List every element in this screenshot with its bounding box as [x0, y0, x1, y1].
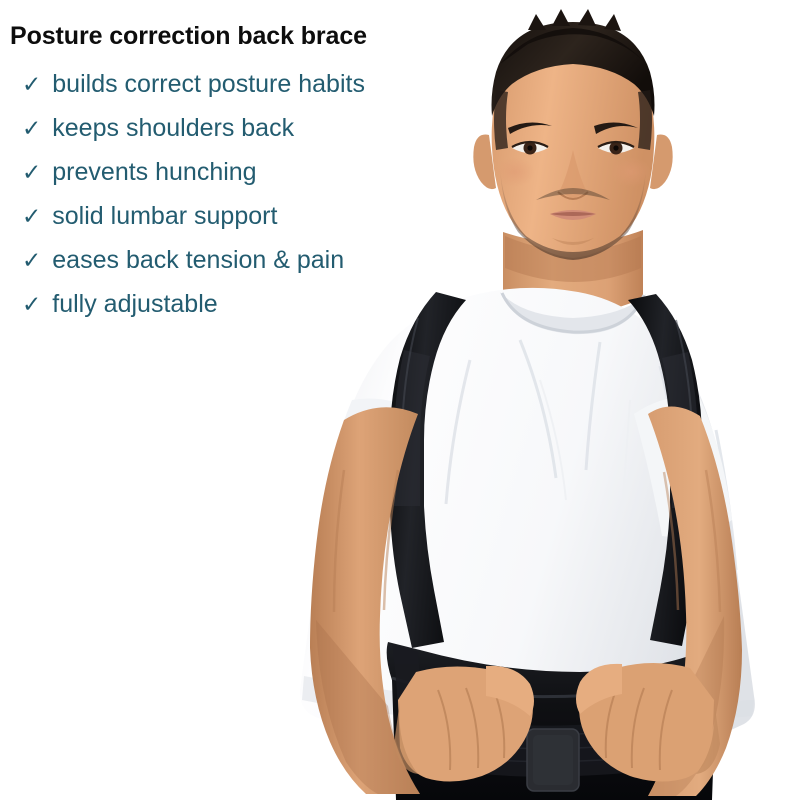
list-item: ✓ builds correct posture habits — [0, 62, 480, 106]
benefit-label: prevents hunching — [52, 150, 256, 194]
benefit-label: fully adjustable — [52, 282, 217, 326]
benefits-list: ✓ builds correct posture habits ✓ keeps … — [0, 51, 480, 326]
check-icon: ✓ — [22, 106, 41, 150]
check-icon: ✓ — [22, 282, 41, 326]
benefit-label: builds correct posture habits — [52, 62, 365, 106]
list-item: ✓ fully adjustable — [0, 282, 480, 326]
list-item: ✓ eases back tension & pain — [0, 238, 480, 282]
check-icon: ✓ — [22, 150, 41, 194]
product-marketing-image: Posture correction back brace ✓ builds c… — [0, 0, 800, 800]
check-icon: ✓ — [22, 194, 41, 238]
list-item: ✓ keeps shoulders back — [0, 106, 480, 150]
list-item: ✓ solid lumbar support — [0, 194, 480, 238]
marketing-copy: Posture correction back brace ✓ builds c… — [0, 0, 480, 326]
benefit-label: keeps shoulders back — [52, 106, 294, 150]
list-item: ✓ prevents hunching — [0, 150, 480, 194]
benefit-label: eases back tension & pain — [52, 238, 344, 282]
check-icon: ✓ — [22, 62, 41, 106]
benefit-label: solid lumbar support — [52, 194, 277, 238]
check-icon: ✓ — [22, 238, 41, 282]
page-title: Posture correction back brace — [0, 0, 480, 51]
